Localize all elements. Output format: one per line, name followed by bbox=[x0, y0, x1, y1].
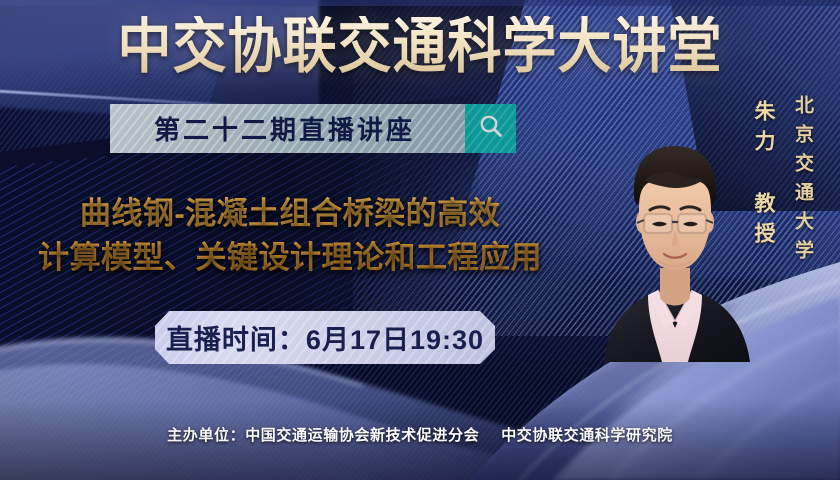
broadcast-time-banner: 直播时间：6月17日19:30 bbox=[155, 311, 495, 364]
organizer-footer: 主办单位：中国交通运输协会新技术促进分会中交协联交通科学研究院 bbox=[0, 424, 840, 445]
organizer-name-1: 中国交通运输协会新技术促进分会 bbox=[245, 427, 479, 444]
broadcast-time-label: 直播时间：6月17日19:30 bbox=[166, 318, 484, 357]
page-title: 中交协联交通科学大讲堂 bbox=[0, 16, 840, 76]
speaker-organization: 北京交通大学 bbox=[789, 95, 816, 269]
lecture-title: 曲线钢-混凝土组合桥梁的高效 计算模型、关键设计理论和工程应用 bbox=[0, 192, 580, 280]
series-banner: 第二十二期直播讲座 bbox=[110, 104, 465, 153]
speaker-portrait bbox=[592, 122, 758, 362]
lecture-title-line-2: 计算模型、关键设计理论和工程应用 bbox=[0, 236, 580, 280]
organizer-name-2: 中交协联交通科学研究院 bbox=[501, 427, 673, 444]
search-icon-box[interactable] bbox=[465, 104, 516, 153]
search-icon bbox=[478, 113, 504, 144]
organizer-prefix: 主办单位： bbox=[167, 427, 245, 444]
lecture-title-line-1: 曲线钢-混凝土组合桥梁的高效 bbox=[0, 192, 580, 236]
webinar-poster: 中交协联交通科学大讲堂 第二十二期直播讲座 曲线钢-混凝土组合桥梁的高效 计算模… bbox=[0, 0, 840, 480]
speaker-name: 朱力 教授 bbox=[748, 100, 778, 252]
series-label: 第二十二期直播讲座 bbox=[110, 110, 465, 147]
